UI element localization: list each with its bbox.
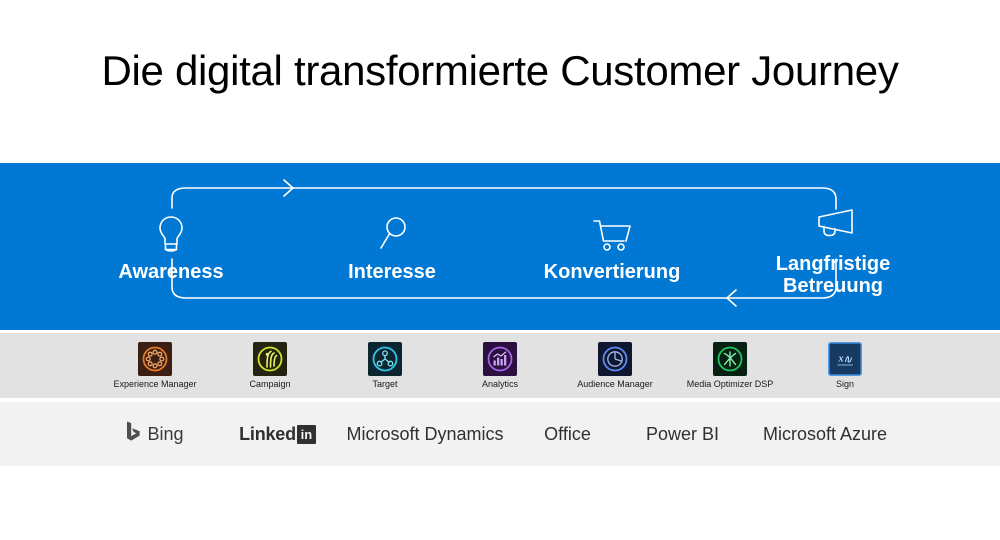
slide-canvas: Die digital transformierte Customer Jour… <box>0 0 1000 540</box>
magnifier-icon <box>302 213 482 257</box>
adobe-sign-icon: x <box>828 342 862 376</box>
flow-line-return <box>172 259 836 298</box>
lightbulb-icon <box>81 213 261 257</box>
bing-logo-icon <box>126 420 141 448</box>
adobe-product-media-optimizer-dsp[interactable]: Media Optimizer DSP <box>673 342 788 390</box>
journey-stage-label: Interesse <box>302 261 482 283</box>
adobe-campaign-icon <box>253 342 287 376</box>
microsoft-product-bing[interactable]: Bing <box>93 420 218 448</box>
page-title-container: Die digital transformierte Customer Jour… <box>0 48 1000 94</box>
journey-stage-label: Langfristige Betreuung <box>742 253 924 298</box>
adobe-product-label: Media Optimizer DSP <box>687 380 774 390</box>
microsoft-product-label: Office <box>544 424 591 445</box>
microsoft-product-label: Bing <box>147 424 183 445</box>
linkedin-in-badge-icon: in <box>297 425 316 444</box>
page-title: Die digital transformierte Customer Jour… <box>101 48 898 94</box>
journey-stage-label: Awareness <box>81 261 261 283</box>
journey-stage-langfristige-betreuung[interactable]: Langfristige Betreuung <box>742 205 924 298</box>
journey-stage-awareness[interactable]: Awareness <box>81 213 261 283</box>
adobe-analytics-icon <box>483 342 517 376</box>
adobe-product-target[interactable]: Target <box>328 342 443 390</box>
adobe-product-label: Analytics <box>482 380 518 390</box>
microsoft-product-label: Microsoft Dynamics <box>346 424 503 445</box>
journey-stage-konvertierung[interactable]: Konvertierung <box>522 213 702 283</box>
megaphone-icon <box>742 205 924 249</box>
microsoft-products-row: Bing Linked in Microsoft Dynamics Office… <box>0 402 1000 466</box>
adobe-product-sign[interactable]: x Sign <box>788 342 903 390</box>
svg-text:x: x <box>838 353 844 364</box>
microsoft-product-label: Linked <box>239 424 296 445</box>
customer-journey-band: Awareness Interesse Konver <box>0 163 1000 330</box>
adobe-product-label: Sign <box>836 380 854 390</box>
microsoft-product-label: Microsoft Azure <box>763 424 887 445</box>
journey-stage-interesse[interactable]: Interesse <box>302 213 482 283</box>
microsoft-product-power-bi[interactable]: Power BI <box>623 424 743 445</box>
adobe-experience-manager-icon <box>138 342 172 376</box>
adobe-product-label: Target <box>372 380 397 390</box>
adobe-media-optimizer-icon <box>713 342 747 376</box>
microsoft-product-office[interactable]: Office <box>513 424 623 445</box>
flow-line-forward <box>172 188 836 209</box>
microsoft-product-dynamics[interactable]: Microsoft Dynamics <box>338 424 513 445</box>
microsoft-product-label: Power BI <box>646 424 719 445</box>
adobe-product-label: Audience Manager <box>577 380 653 390</box>
adobe-product-label: Campaign <box>249 380 290 390</box>
shopping-cart-icon <box>522 213 702 257</box>
adobe-product-analytics[interactable]: Analytics <box>443 342 558 390</box>
adobe-products-row: Experience Manager Campaign <box>0 333 1000 398</box>
microsoft-product-linkedin[interactable]: Linked in <box>218 424 338 445</box>
adobe-products-band: Experience Manager Campaign <box>0 333 1000 398</box>
adobe-target-icon <box>368 342 402 376</box>
adobe-product-experience-manager[interactable]: Experience Manager <box>98 342 213 390</box>
journey-stage-label: Konvertierung <box>522 261 702 283</box>
adobe-audience-manager-icon <box>598 342 632 376</box>
adobe-product-audience-manager[interactable]: Audience Manager <box>558 342 673 390</box>
microsoft-product-azure[interactable]: Microsoft Azure <box>743 424 908 445</box>
microsoft-products-band: Bing Linked in Microsoft Dynamics Office… <box>0 402 1000 466</box>
adobe-product-campaign[interactable]: Campaign <box>213 342 328 390</box>
adobe-product-label: Experience Manager <box>113 380 196 390</box>
